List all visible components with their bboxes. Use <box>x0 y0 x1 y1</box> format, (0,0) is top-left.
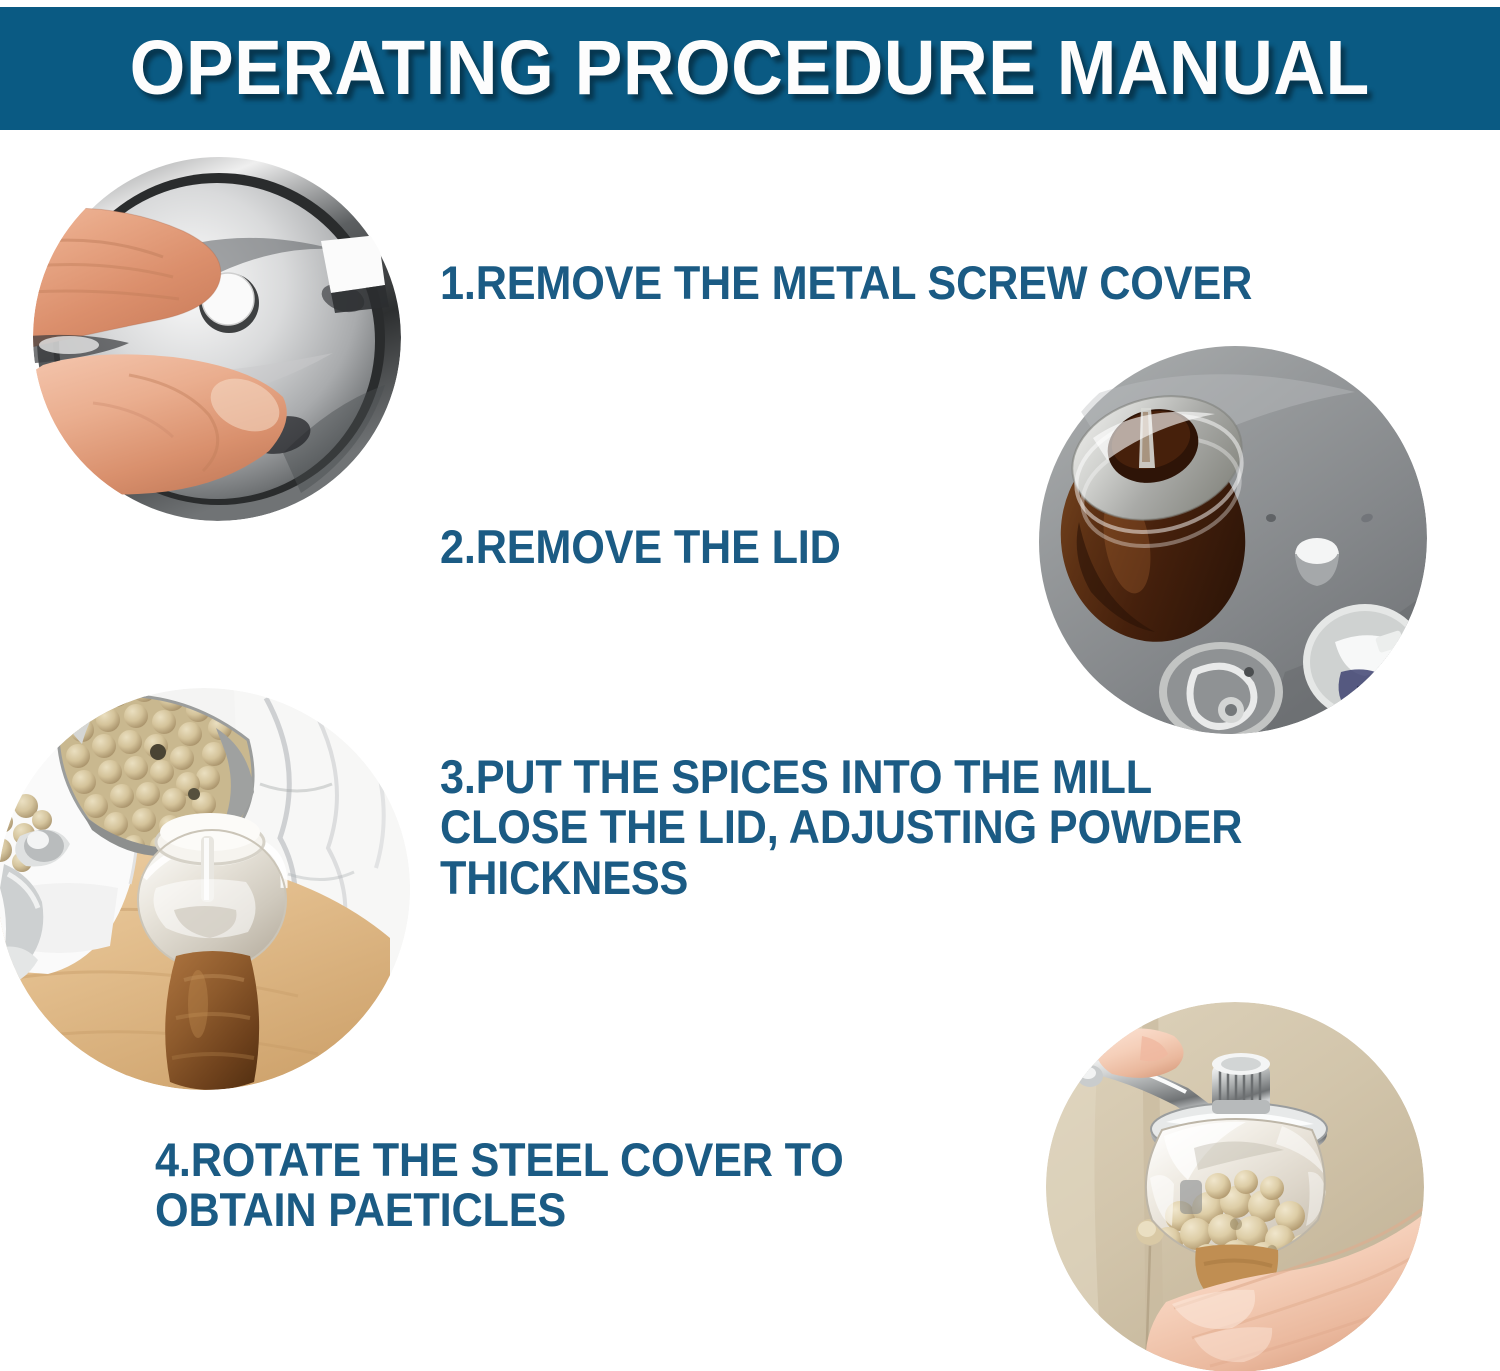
step-2-photo <box>1035 342 1427 734</box>
step-2-instruction: 2.REMOVE THE LID <box>440 522 841 572</box>
step-4-photo <box>1046 1002 1424 1371</box>
fingers-screw-cover-illustration <box>33 153 401 521</box>
spices-into-mill-illustration <box>0 688 410 1090</box>
hand-holding-mill-illustration <box>1046 1002 1424 1371</box>
step-3-instruction: 3.PUT THE SPICES INTO THE MILL CLOSE THE… <box>440 752 1242 903</box>
step-3-photo <box>0 688 410 1090</box>
step-1-instruction: 1.REMOVE THE METAL SCREW COVER <box>440 258 1252 308</box>
mill-lid-removed-illustration <box>1035 342 1427 734</box>
operating-procedure-manual-page: OPERATING PROCEDURE MANUAL <box>0 0 1500 1371</box>
page-title: OPERATING PROCEDURE MANUAL <box>130 30 1370 107</box>
step-1-photo <box>33 153 401 521</box>
header-banner: OPERATING PROCEDURE MANUAL <box>0 7 1500 130</box>
step-4-instruction: 4.ROTATE THE STEEL COVER TO OBTAIN PAETI… <box>155 1135 844 1236</box>
